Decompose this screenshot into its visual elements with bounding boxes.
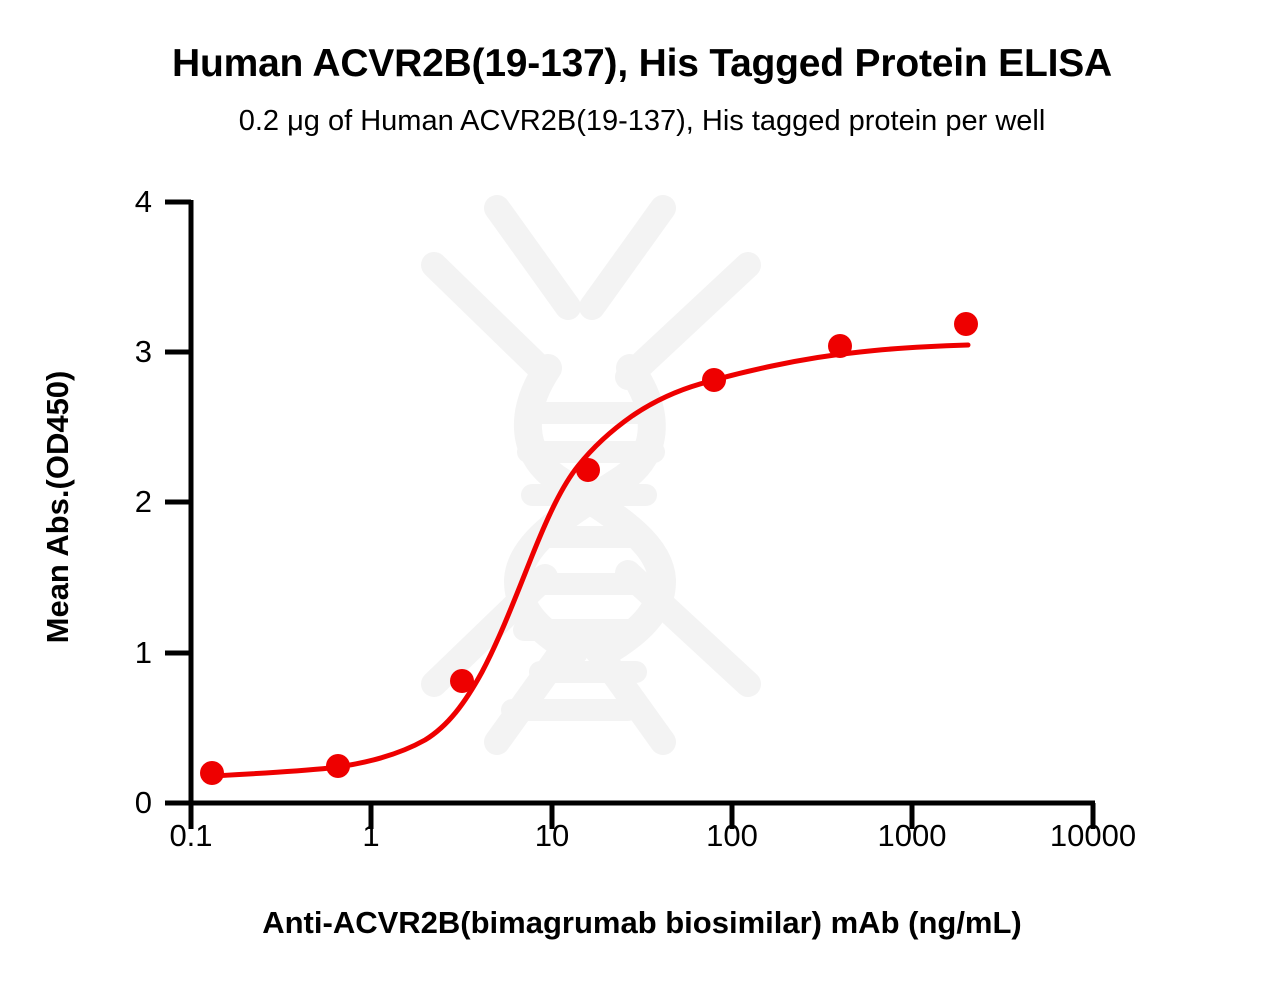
y-axis-label: Mean Abs.(OD450) xyxy=(40,297,76,717)
x-tick-label-1: 1 xyxy=(291,818,451,854)
elisa-chart-figure: Human ACVR2B(19-137), His Tagged Protein… xyxy=(0,0,1284,996)
y-tick-label-0: 0 xyxy=(108,785,152,821)
data-point xyxy=(450,669,474,693)
data-point xyxy=(326,754,350,778)
y-tick-label-3: 3 xyxy=(108,334,152,370)
data-point xyxy=(576,458,600,482)
x-tick-label-10000: 10000 xyxy=(1013,818,1173,854)
x-tick-label-10: 10 xyxy=(472,818,632,854)
y-tick-label-4: 4 xyxy=(108,184,152,220)
x-tick-label-0-1: 0.1 xyxy=(111,818,271,854)
data-point xyxy=(200,761,224,785)
data-point xyxy=(828,334,852,358)
y-tick-label-2: 2 xyxy=(108,484,152,520)
data-point xyxy=(954,312,978,336)
y-axis-ticks xyxy=(165,202,191,803)
x-tick-label-100: 100 xyxy=(652,818,812,854)
x-tick-label-1000: 1000 xyxy=(832,818,992,854)
data-point xyxy=(702,368,726,392)
y-tick-label-1: 1 xyxy=(108,635,152,671)
x-axis-label: Anti-ACVR2B(bimagrumab biosimilar) mAb (… xyxy=(0,905,1284,941)
